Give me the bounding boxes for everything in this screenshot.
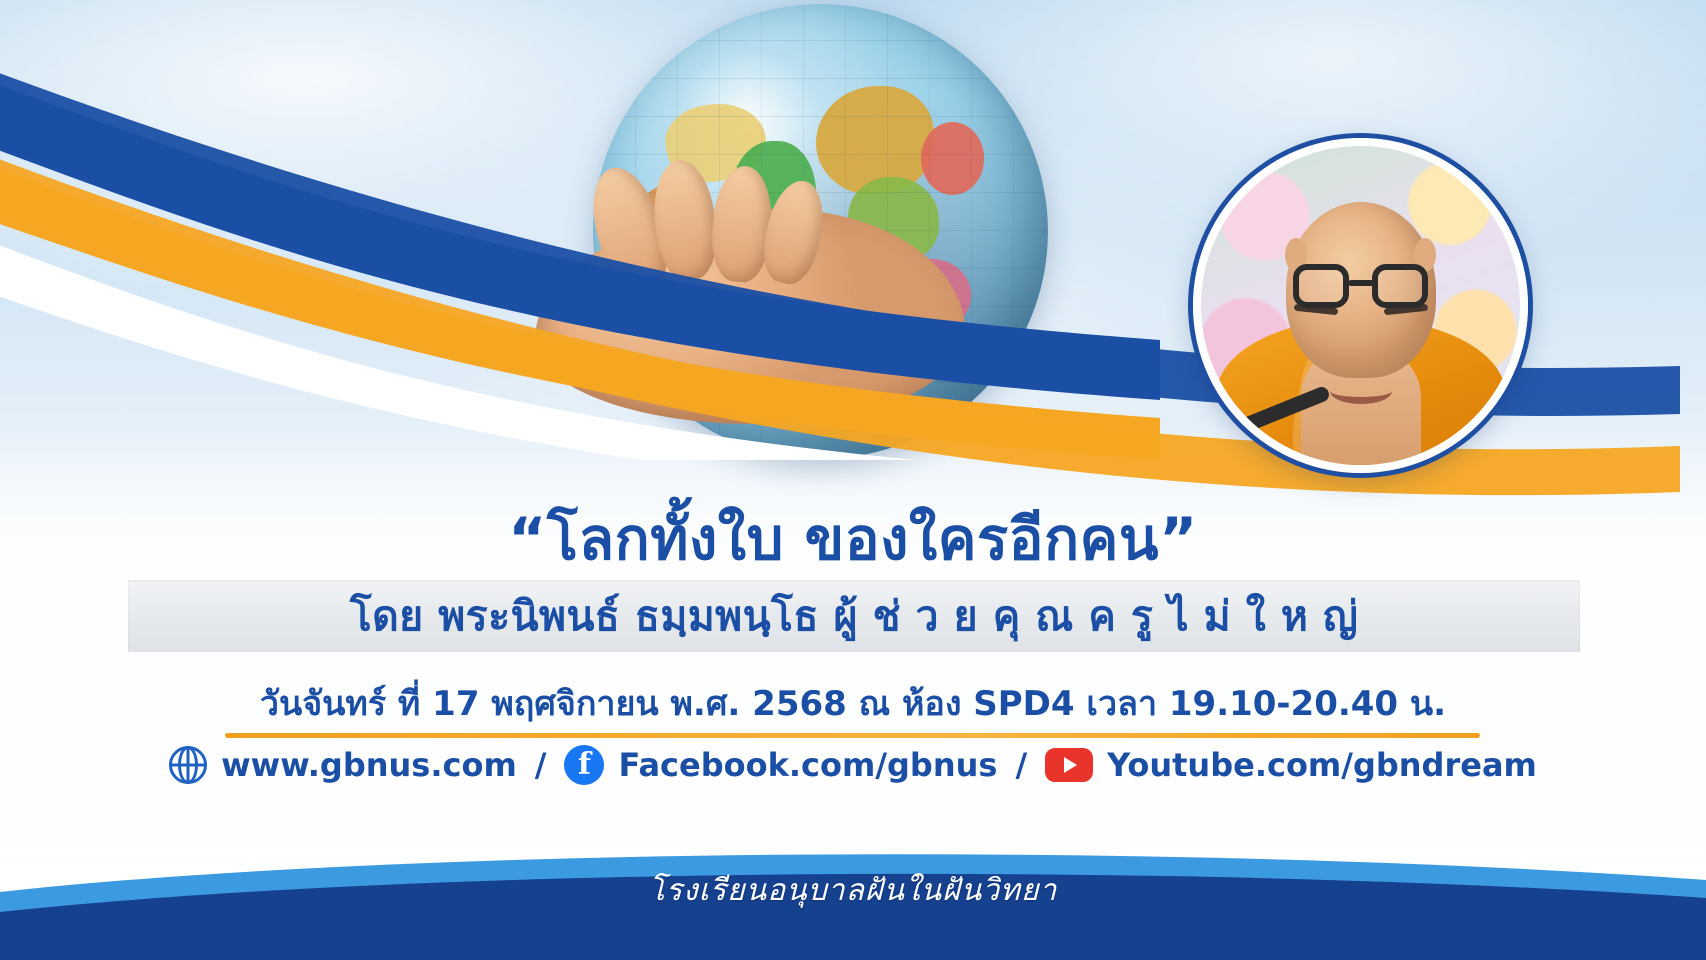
website-link[interactable]: www.gbnus.com (221, 746, 517, 784)
social-links-row: www.gbnus.com / f Facebook.com/gbnus / Y… (0, 745, 1706, 785)
youtube-icon (1045, 748, 1093, 782)
separator-1: / (535, 746, 547, 784)
globe-in-hand-photo (505, 0, 1125, 424)
school-signature: โรงเรียนอนุบาลฝันในฝันวิทยา (0, 867, 1706, 914)
facebook-icon: f (564, 745, 604, 785)
page-title: “โลกทั้งใบ ของใครอีกคน” (0, 492, 1706, 585)
date-venue-line: วันจันทร์ ที่ 17 พฤศจิกายน พ.ศ. 2568 ณ ห… (0, 676, 1706, 730)
avatar (1193, 138, 1528, 473)
speaker-name: โดย พระนิพนธ์ ธมฺมพนฺโธ ผู้ ช่ ว ย คุ ณ … (350, 584, 1359, 649)
speaker-bar: โดย พระนิพนธ์ ธมฺมพนฺโธ ผู้ ช่ ว ย คุ ณ … (128, 580, 1580, 652)
facebook-link[interactable]: Facebook.com/gbnus (618, 746, 997, 784)
divider (225, 733, 1480, 738)
youtube-link[interactable]: Youtube.com/gbndream (1107, 746, 1537, 784)
separator-2: / (1015, 746, 1027, 784)
poster-canvas: “โลกทั้งใบ ของใครอีกคน” โดย พระนิพนธ์ ธม… (0, 0, 1706, 960)
globe-icon (169, 746, 207, 784)
